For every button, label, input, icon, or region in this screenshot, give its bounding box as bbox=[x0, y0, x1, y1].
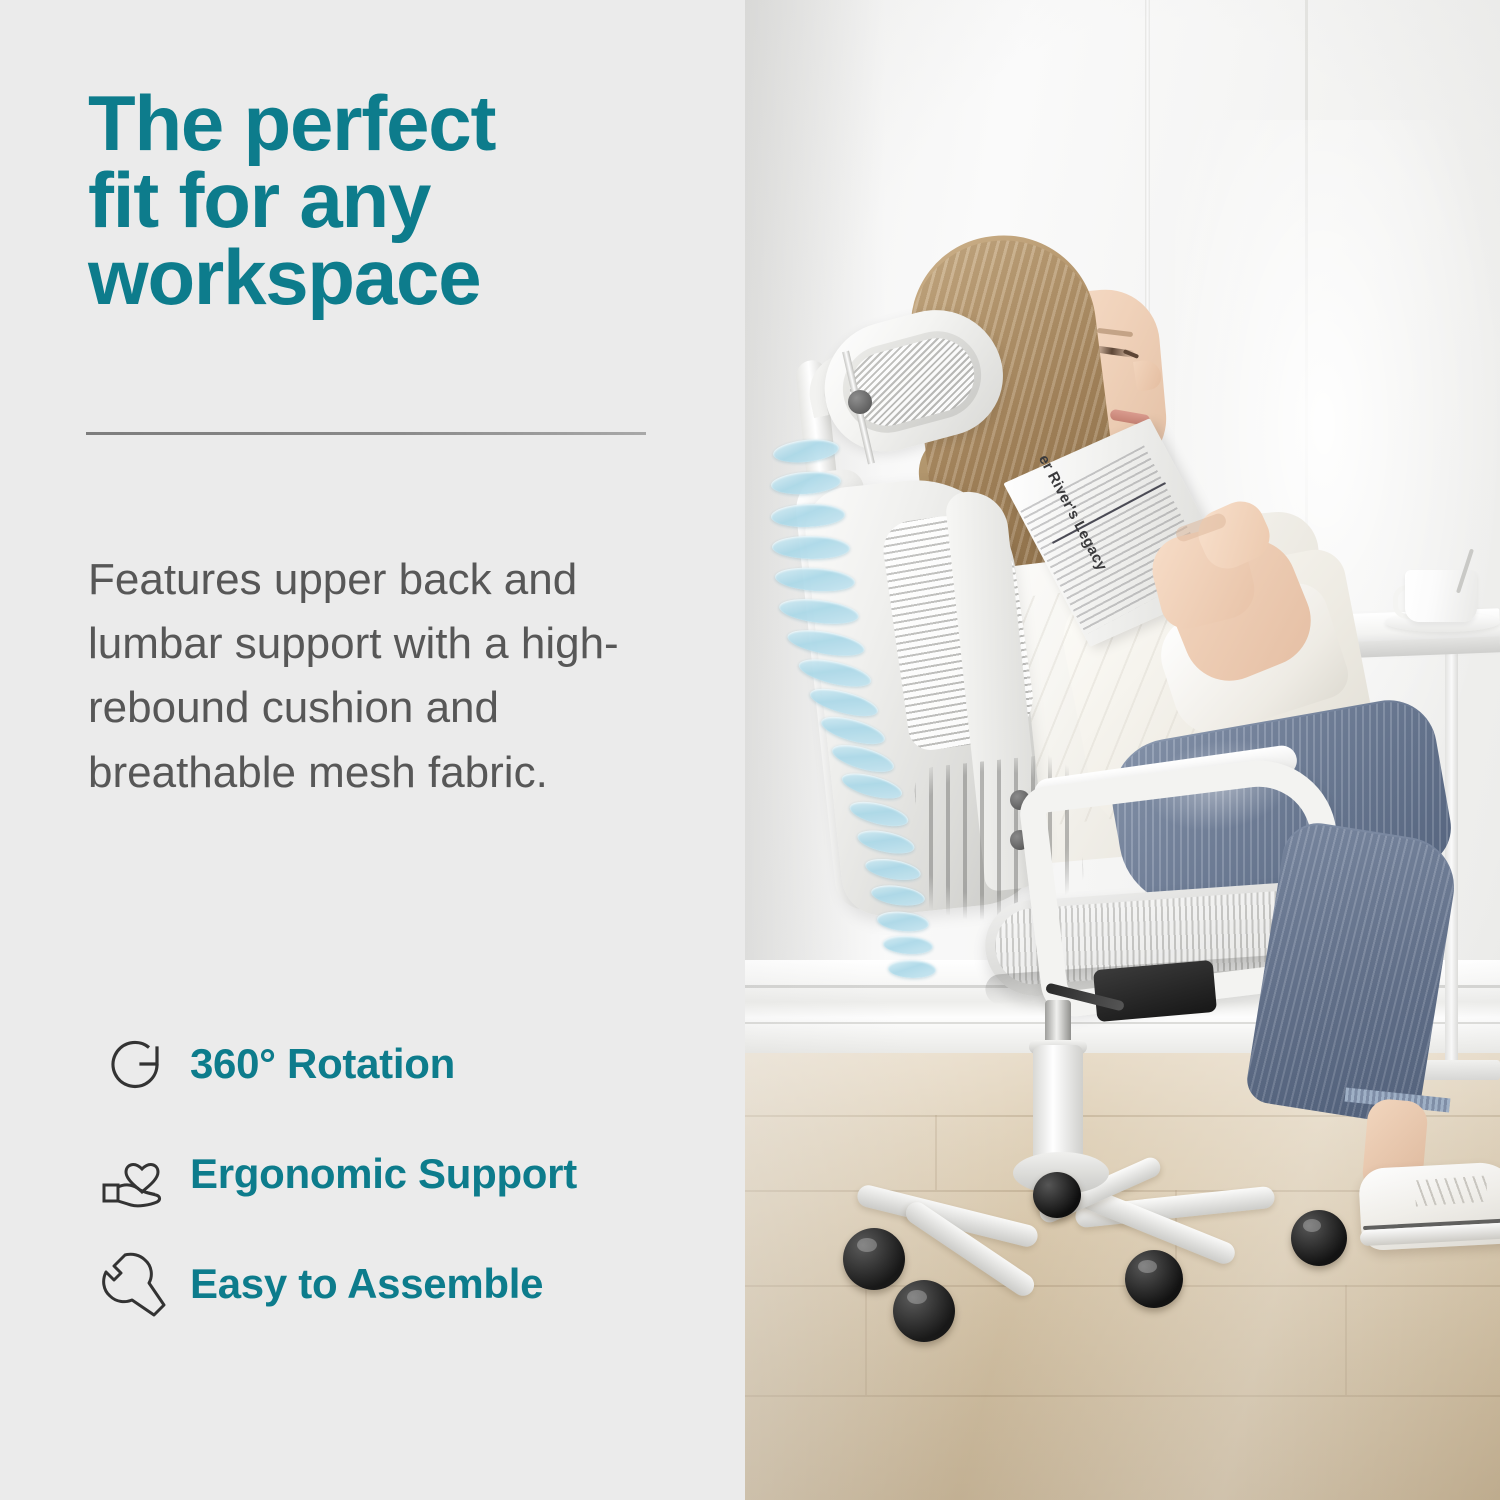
left-text-panel: The perfect fit for any workspace Featur… bbox=[0, 0, 745, 1500]
product-feature-image: The perfect fit for any workspace Featur… bbox=[0, 0, 1500, 1500]
page-headline: The perfect fit for any workspace bbox=[88, 85, 688, 317]
headline-line-1: The perfect bbox=[88, 85, 688, 162]
feature-label-assemble: Easy to Assemble bbox=[190, 1260, 543, 1308]
feature-item-rotation: 360° Rotation bbox=[96, 1012, 736, 1116]
feature-label-rotation: 360° Rotation bbox=[190, 1040, 455, 1088]
photo-vignette bbox=[745, 0, 1500, 1500]
product-photo: er River's Legacy bbox=[745, 0, 1500, 1500]
feature-label-ergonomic: Ergonomic Support bbox=[190, 1150, 577, 1198]
body-copy: Features upper back and lumbar support w… bbox=[88, 548, 678, 805]
headline-divider bbox=[86, 432, 646, 435]
feature-item-assemble: Easy to Assemble bbox=[96, 1232, 736, 1336]
headline-line-3: workspace bbox=[88, 239, 688, 316]
wrench-icon bbox=[96, 1245, 174, 1323]
feature-list: 360° Rotation Ergonomic Support bbox=[96, 1012, 736, 1342]
rotate-360-icon bbox=[96, 1025, 174, 1103]
feature-item-ergonomic: Ergonomic Support bbox=[96, 1122, 736, 1226]
headline-line-2: fit for any bbox=[88, 162, 688, 239]
hand-heart-icon bbox=[96, 1135, 174, 1213]
